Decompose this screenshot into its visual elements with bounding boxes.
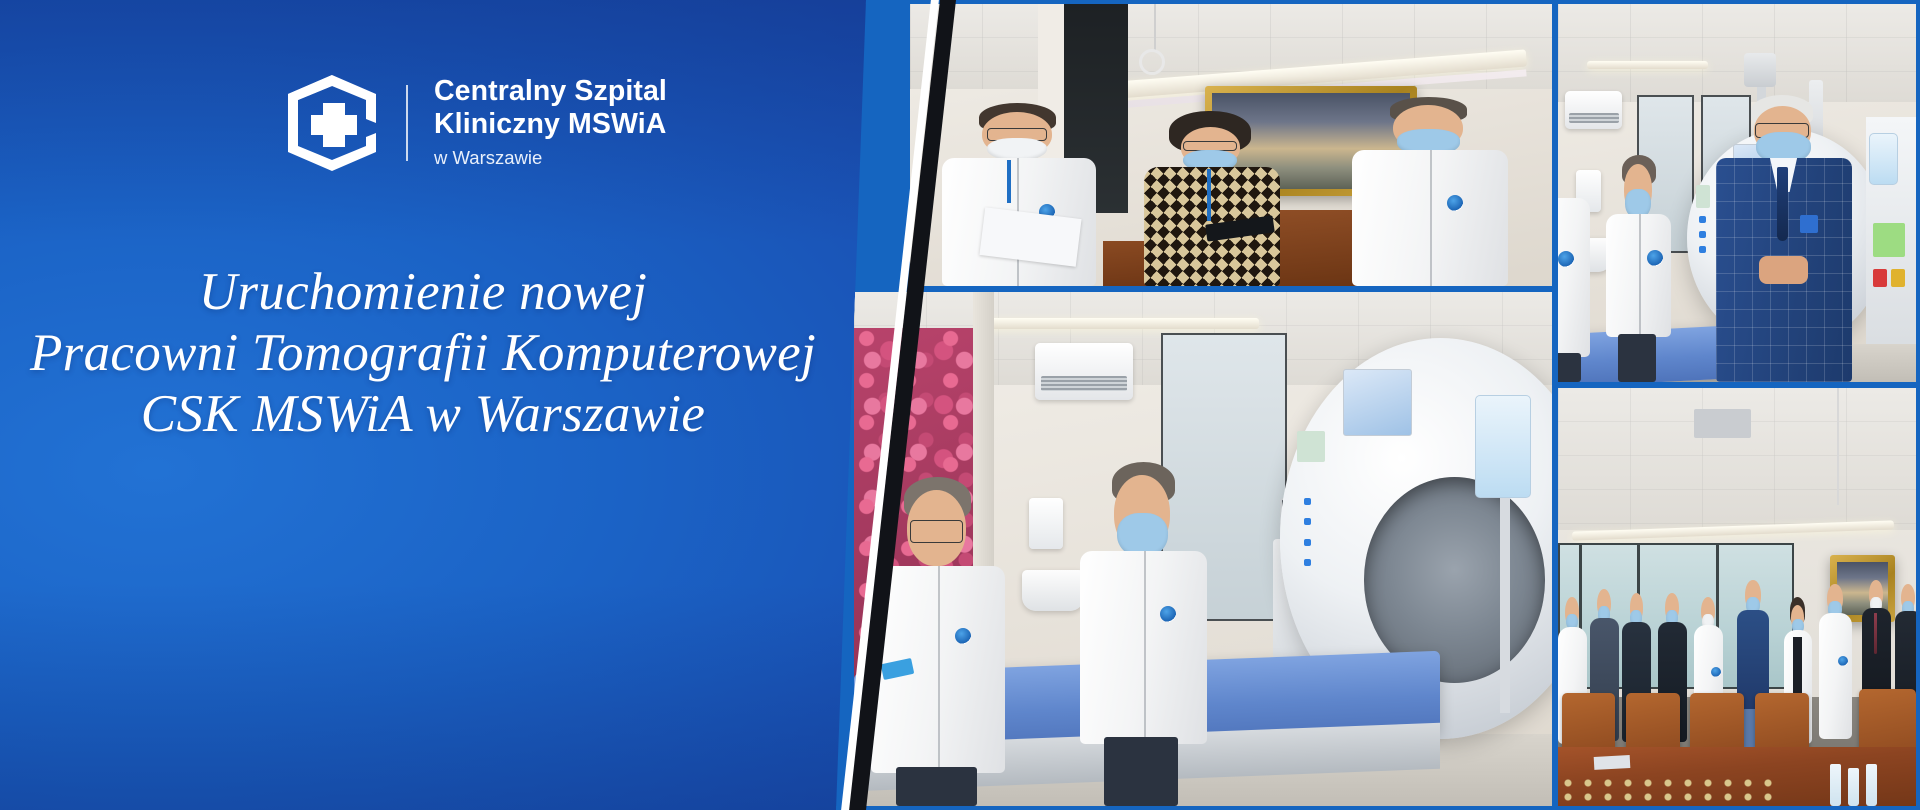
collage-photo-official-speech [1558,4,1916,382]
collage-divider-horizontal-right [1552,382,1920,388]
collage-photo-ct-room [854,292,1552,806]
collage-divider-vertical [1552,0,1558,810]
shield-medical-cross-icon [284,73,380,173]
logo-text: Centralny Szpital Kliniczny MSWiA w Wars… [434,75,667,171]
collage-edge-top [836,0,1920,4]
logo-lockup: Centralny Szpital Kliniczny MSWiA w Wars… [284,73,667,173]
collage-photo-conference-room [1558,388,1916,806]
logo-subtitle: w Warszawie [434,145,667,171]
headline-line-2: Pracowni Tomografii Komputerowej [0,323,846,384]
headline-line-3: CSK MSWiA w Warszawie [0,384,846,445]
collage-edge-bottom [836,806,1920,810]
collage-edge-right [1916,0,1920,810]
logo-title-line-2: Kliniczny MSWiA [434,108,667,141]
headline-line-1: Uruchomienie nowej [0,262,846,323]
logo-title-line-1: Centralny Szpital [434,75,667,108]
photo-collage [836,0,1920,810]
logo-divider [406,85,408,161]
collage-photo-office-group [910,4,1552,286]
banner-root: Centralny Szpital Kliniczny MSWiA w Wars… [0,0,1920,810]
collage-divider-horizontal-left [836,286,1556,292]
headline: Uruchomienie nowej Pracowni Tomografii K… [0,262,846,445]
